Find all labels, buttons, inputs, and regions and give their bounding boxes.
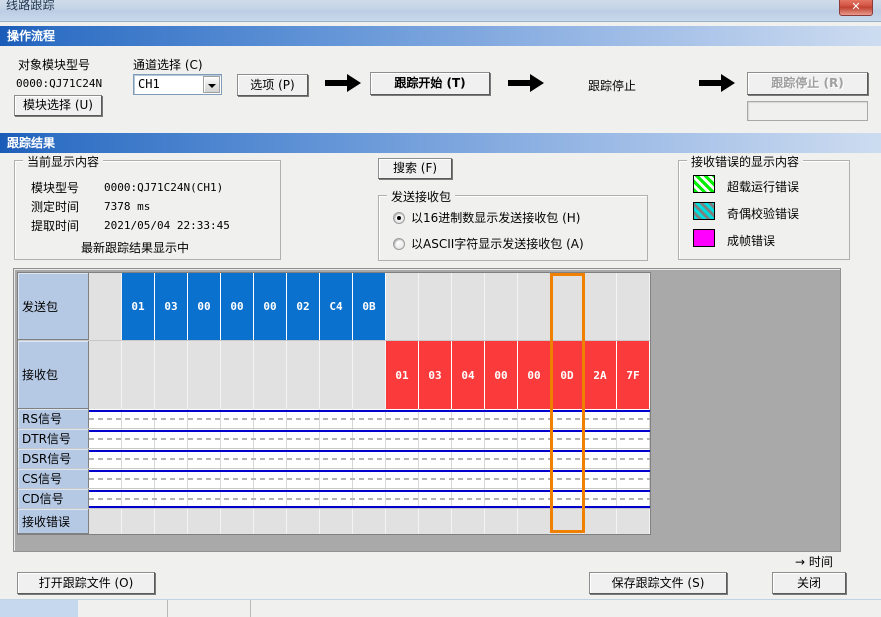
save-trace-file-button[interactable]: 保存跟踪文件 (S) (589, 572, 727, 594)
row-header-signal-1-text: DTR信号 (22, 430, 71, 447)
signal-high-line (89, 490, 650, 492)
taskbar-item-3[interactable] (251, 600, 881, 617)
parity-error-label: 奇偶校验错误 (727, 205, 799, 222)
receive-error-cell[interactable] (221, 509, 254, 534)
taskbar-strip (0, 599, 881, 617)
radio-hex-label: 以16进制数显示发送接收包 (H) (411, 211, 580, 225)
current-display-group: 当前显示内容 模块型号 0000:QJ71C24N(CH1) 测定时间 7378… (14, 160, 281, 260)
receive-packet-empty[interactable] (221, 341, 254, 409)
receive-packet-empty[interactable] (89, 341, 122, 409)
receive-error-cell[interactable] (320, 509, 353, 534)
current-display-group-title: 当前显示内容 (23, 153, 103, 170)
error-legend-group: 接收错误的显示内容 超载运行错误 奇偶校验错误 成帧错误 (678, 160, 850, 260)
send-packet-empty[interactable] (485, 273, 518, 340)
send-packet-byte[interactable]: 00 (254, 273, 287, 340)
row-header-send-packet: 发送包 (18, 273, 89, 340)
receive-error-cell[interactable] (386, 509, 419, 534)
taskbar-item-1[interactable] (78, 600, 168, 617)
row-header-signal-3: CS信号 (18, 469, 89, 489)
receive-error-cell[interactable] (155, 509, 188, 534)
measure-time-label: 测定时间 (31, 198, 79, 215)
receive-error-cell[interactable] (254, 509, 287, 534)
module-select-button[interactable]: 模块选择 (U) (14, 95, 102, 116)
row-header-signal-1: DTR信号 (18, 429, 89, 449)
module-model-value: 0000:QJ71C24N(CH1) (104, 181, 223, 194)
send-packet-byte[interactable]: 03 (155, 273, 188, 340)
row-header-send-packet-text: 发送包 (22, 298, 58, 315)
framing-swatch-icon (693, 229, 715, 247)
send-packet-empty[interactable] (452, 273, 485, 340)
packet-display-group-title: 发送接收包 (387, 188, 455, 205)
send-packet-byte[interactable]: 02 (287, 273, 320, 340)
option-button[interactable]: 选项 (P) (237, 74, 308, 96)
row-header-receive-error: 接收错误 (18, 509, 89, 534)
signal-high-line (89, 470, 650, 472)
radio-ascii-dot[interactable] (393, 238, 405, 250)
trace-grid-inner[interactable]: 发送包010300000002C40B接收包01030400000D2A7FRS… (17, 272, 651, 535)
signal-high-line (89, 506, 650, 508)
send-packet-byte[interactable]: C4 (320, 273, 353, 340)
receive-packet-byte[interactable]: 04 (452, 341, 485, 409)
receive-packet-empty[interactable] (353, 341, 386, 409)
receive-packet-empty[interactable] (320, 341, 353, 409)
receive-error-cell[interactable] (452, 509, 485, 534)
row-header-signal-4: CD信号 (18, 489, 89, 509)
right-arrow-icon-2 (508, 72, 546, 94)
search-button[interactable]: 搜索 (F) (378, 158, 452, 179)
line-trace-window: 线路跟踪 ✕ 操作流程 对象模块型号 0000:QJ71C24N 模块选择 (U… (0, 0, 881, 617)
receive-error-cell[interactable] (122, 509, 155, 534)
error-legend-group-title: 接收错误的显示内容 (687, 153, 803, 170)
status-textbox (747, 101, 868, 121)
title-bar: 线路跟踪 ✕ (0, 0, 881, 22)
signal-low-line (89, 418, 650, 420)
measure-time-value: 7378 ms (104, 200, 150, 213)
channel-select-value: CH1 (138, 77, 160, 91)
framing-error-label: 成帧错误 (727, 232, 775, 249)
send-packet-empty[interactable] (617, 273, 650, 340)
overrun-swatch-icon (693, 175, 715, 193)
receive-packet-empty[interactable] (254, 341, 287, 409)
close-icon[interactable]: ✕ (839, 0, 873, 16)
time-axis-label: → 时间 (795, 553, 833, 570)
receive-error-cell[interactable] (584, 509, 617, 534)
send-packet-empty[interactable] (518, 273, 551, 340)
send-packet-byte[interactable]: 01 (122, 273, 155, 340)
extract-time-label: 提取时间 (31, 217, 79, 234)
radio-hex-dot[interactable] (393, 212, 405, 224)
target-module-value: 0000:QJ71C24N (16, 77, 102, 90)
receive-packet-byte[interactable]: 0D (551, 341, 584, 409)
chevron-down-icon[interactable] (203, 76, 220, 93)
receive-packet-byte[interactable]: 03 (419, 341, 452, 409)
receive-packet-empty[interactable] (122, 341, 155, 409)
radio-hex-display[interactable]: 以16进制数显示发送接收包 (H) (393, 209, 580, 226)
packet-display-group: 发送接收包 以16进制数显示发送接收包 (H) 以ASCII字符显示发送接收包 … (378, 195, 648, 261)
receive-packet-byte[interactable]: 00 (485, 341, 518, 409)
signal-low-line (89, 478, 650, 480)
receive-error-cell[interactable] (287, 509, 320, 534)
receive-error-cell[interactable] (89, 509, 122, 534)
trace-stop-status-label: 跟踪停止 (588, 77, 636, 94)
radio-ascii-label: 以ASCII字符显示发送接收包 (A) (411, 237, 584, 251)
signal-low-line (89, 458, 650, 460)
send-packet-byte[interactable]: 0B (353, 273, 386, 340)
current-display-footer: 最新跟踪结果显示中 (81, 239, 189, 256)
signal-high-line (89, 410, 650, 412)
send-packet-byte[interactable]: 00 (221, 273, 254, 340)
receive-packet-byte[interactable]: 00 (518, 341, 551, 409)
receive-error-cell[interactable] (188, 509, 221, 534)
send-packet-empty[interactable] (584, 273, 617, 340)
receive-error-cell[interactable] (419, 509, 452, 534)
open-trace-file-button[interactable]: 打开跟踪文件 (O) (17, 572, 155, 594)
receive-error-cell[interactable] (617, 509, 650, 534)
row-header-signal-4-text: CD信号 (22, 490, 64, 507)
send-packet-empty[interactable] (89, 273, 122, 340)
row-header-receive-packet-text: 接收包 (22, 366, 58, 383)
receive-packet-empty[interactable] (188, 341, 221, 409)
row-header-signal-3-text: CS信号 (22, 470, 62, 487)
signal-high-line (89, 430, 650, 432)
signal-low-line (89, 438, 650, 440)
receive-error-cell[interactable] (353, 509, 386, 534)
receive-packet-empty[interactable] (287, 341, 320, 409)
trace-stop-button: 跟踪停止 (R) (747, 72, 868, 95)
module-model-label: 模块型号 (31, 179, 79, 196)
signal-low-line (89, 498, 650, 500)
close-button[interactable]: 关闭 (772, 572, 846, 594)
right-arrow-icon-1 (325, 72, 363, 94)
extract-time-value: 2021/05/04 22:33:45 (104, 219, 230, 232)
section-header-trace-result: 跟踪结果 (0, 133, 881, 153)
row-header-signal-2-text: DSR信号 (22, 450, 71, 467)
send-packet-empty[interactable] (419, 273, 452, 340)
row-header-receive-error-text: 接收错误 (22, 513, 70, 530)
send-packet-byte[interactable]: 00 (188, 273, 221, 340)
receive-packet-byte[interactable]: 01 (386, 341, 419, 409)
taskbar-item-2[interactable] (168, 600, 251, 617)
row-header-signal-2: DSR信号 (18, 449, 89, 469)
window-title: 线路跟踪 (6, 0, 55, 13)
receive-packet-byte[interactable]: 7F (617, 341, 650, 409)
parity-swatch-icon (693, 202, 715, 220)
send-packet-empty[interactable] (386, 273, 419, 340)
section-header-operation-flow: 操作流程 (0, 26, 881, 46)
target-module-label: 对象模块型号 (18, 56, 90, 73)
channel-select-combo[interactable]: CH1 (133, 74, 222, 95)
receive-packet-byte[interactable]: 2A (584, 341, 617, 409)
receive-error-cell[interactable] (485, 509, 518, 534)
trace-start-button[interactable]: 跟踪开始 (T) (370, 72, 490, 95)
send-packet-empty[interactable] (551, 273, 584, 340)
row-header-signal-0: RS信号 (18, 409, 89, 429)
receive-packet-empty[interactable] (155, 341, 188, 409)
channel-select-label: 通道选择 (C) (133, 56, 203, 73)
receive-error-cell[interactable] (518, 509, 551, 534)
receive-error-cell[interactable] (551, 509, 584, 534)
row-header-receive-packet: 接收包 (18, 341, 89, 409)
overrun-error-label: 超载运行错误 (727, 178, 799, 195)
radio-ascii-display[interactable]: 以ASCII字符显示发送接收包 (A) (393, 235, 584, 252)
row-header-signal-0-text: RS信号 (22, 410, 62, 427)
right-arrow-icon-3 (699, 72, 737, 94)
trace-grid[interactable]: 发送包010300000002C40B接收包01030400000D2A7FRS… (13, 268, 841, 552)
signal-high-line (89, 450, 650, 452)
